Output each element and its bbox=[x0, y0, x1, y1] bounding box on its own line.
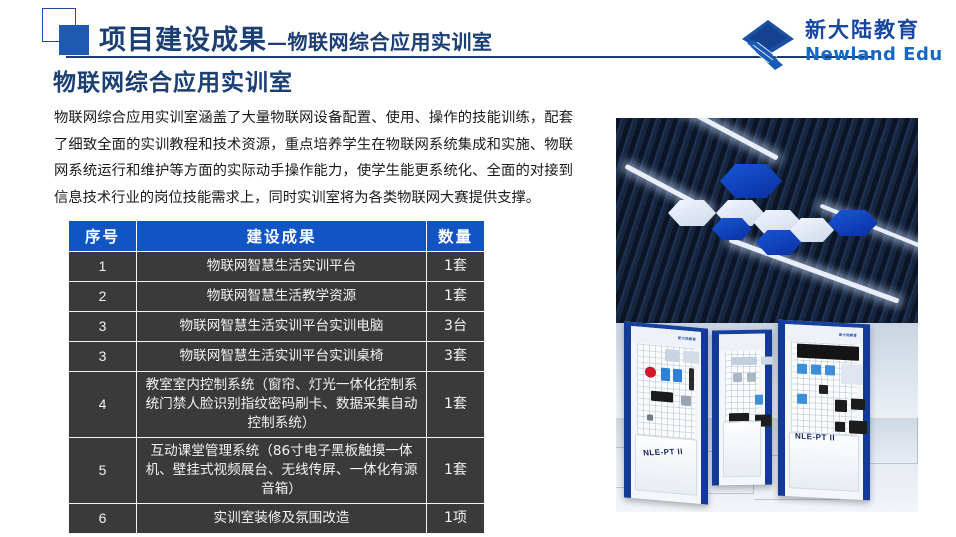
rack-module bbox=[747, 373, 756, 382]
rack-module bbox=[797, 394, 807, 405]
cell-index: 1 bbox=[69, 252, 137, 282]
rack-module bbox=[825, 365, 835, 376]
cell-qty: 1套 bbox=[427, 372, 485, 438]
column-header-index: 序号 bbox=[69, 221, 137, 252]
cell-qty: 1项 bbox=[427, 504, 485, 534]
rack-component-board bbox=[637, 343, 695, 439]
cell-index: 5 bbox=[69, 438, 137, 504]
header-title-sub: —物联网综合应用实训室 bbox=[267, 30, 493, 54]
rack-module bbox=[733, 373, 742, 382]
cell-index: 3 bbox=[69, 342, 137, 372]
rack-module bbox=[665, 349, 679, 362]
rack-module bbox=[683, 350, 699, 363]
table-row: 3物联网智慧生活实训平台实训桌椅3套 bbox=[69, 342, 485, 372]
construction-results-table: 序号 建设成果 数量 1物联网智慧生活实训平台1套2物联网智慧生活教学资源1套3… bbox=[68, 220, 485, 534]
newland-diamond-icon bbox=[737, 19, 799, 75]
rack-module bbox=[835, 400, 847, 413]
table-row: 1物联网智慧生活实训平台1套 bbox=[69, 252, 485, 282]
header-title-main: 项目建设成果 bbox=[99, 25, 267, 56]
cell-item: 物联网智慧生活实训平台 bbox=[137, 252, 427, 282]
header-square-mark bbox=[42, 8, 90, 56]
table-row: 2物联网智慧生活教学资源1套 bbox=[69, 282, 485, 312]
rack-module bbox=[755, 395, 763, 405]
rack-component-board bbox=[725, 351, 759, 422]
brand-name-en: Newland Edu bbox=[805, 43, 943, 67]
rack-module bbox=[689, 368, 694, 390]
cell-index: 4 bbox=[69, 372, 137, 438]
cell-item: 教室室内控制系统（窗帘、灯光一体化控制系统门禁人脸识别指纹密码刷卡、数据采集自动… bbox=[137, 372, 427, 438]
table-body: 1物联网智慧生活实训平台1套2物联网智慧生活教学资源1套3物联网智慧生活实训平台… bbox=[69, 252, 485, 534]
table-row: 3物联网智慧生活实训平台实训电脑3台 bbox=[69, 312, 485, 342]
rack-module bbox=[835, 422, 845, 433]
rack-module bbox=[819, 385, 828, 394]
rack-model-label-left: NLE-PT II bbox=[643, 447, 684, 457]
rack-module bbox=[673, 369, 682, 383]
rack-module bbox=[849, 420, 867, 434]
rack-module bbox=[797, 364, 807, 375]
rack-base-panel bbox=[635, 434, 697, 495]
rack-module bbox=[651, 391, 673, 403]
cell-qty: 1套 bbox=[427, 252, 485, 282]
cell-item: 互动课堂管理系统（86寸电子黑板触摸一体机、壁挂式视频展台、无线传屏、一体化有源… bbox=[137, 438, 427, 504]
rack-module bbox=[761, 356, 773, 364]
brand-name-cn: 新大陆教育 bbox=[805, 17, 943, 43]
cell-qty: 3套 bbox=[427, 342, 485, 372]
rack-brand-tag: 新大陆教育 bbox=[678, 335, 696, 342]
rack-module bbox=[661, 368, 670, 382]
table-row: 4教室室内控制系统（窗帘、灯光一体化控制系统门禁人脸识别指纹密码刷卡、数据采集自… bbox=[69, 372, 485, 438]
cell-index: 6 bbox=[69, 504, 137, 534]
section-heading: 物联网综合应用实训室 bbox=[53, 63, 293, 97]
training-rack-left: 新大陆教育 NLE-PT II bbox=[624, 321, 708, 504]
cell-qty: 1套 bbox=[427, 438, 485, 504]
rack-module bbox=[731, 357, 757, 365]
cell-qty: 3台 bbox=[427, 312, 485, 342]
rack-module bbox=[647, 414, 653, 421]
rack-base-panel bbox=[723, 421, 761, 478]
rack-module bbox=[851, 398, 865, 410]
column-header-item: 建设成果 bbox=[137, 221, 427, 252]
lab-photo: 新大陆教育 NLE-PT II bbox=[616, 118, 918, 512]
rack-module bbox=[811, 364, 821, 375]
table-row: 5互动课堂管理系统（86寸电子黑板触摸一体机、壁挂式视频展台、无线传屏、一体化有… bbox=[69, 438, 485, 504]
cell-item: 物联网智慧生活实训平台实训桌椅 bbox=[137, 342, 427, 372]
brand-logo: 新大陆教育 Newland Edu bbox=[737, 17, 942, 75]
brand-logo-text: 新大陆教育 Newland Edu bbox=[805, 17, 943, 67]
rack-header-band bbox=[719, 334, 765, 351]
cell-qty: 1套 bbox=[427, 282, 485, 312]
table-header-row: 序号 建设成果 数量 bbox=[69, 221, 485, 252]
training-rack-right: 新大陆教育 NLE-PT II bbox=[778, 320, 870, 501]
square-filled-icon bbox=[59, 25, 89, 55]
cell-item: 物联网智慧生活教学资源 bbox=[137, 282, 427, 312]
cell-index: 2 bbox=[69, 282, 137, 312]
training-rack-middle bbox=[712, 329, 772, 485]
rack-display-module bbox=[797, 344, 859, 361]
rack-component-board bbox=[791, 341, 857, 435]
cell-item: 实训室装修及氛围改造 bbox=[137, 504, 427, 534]
cell-index: 3 bbox=[69, 312, 137, 342]
section-paragraph: 物联网综合应用实训室涵盖了大量物联网设备配置、使用、操作的技能训练，配套了细致全… bbox=[54, 105, 573, 211]
cell-item: 物联网智慧生活实训平台实训电脑 bbox=[137, 312, 427, 342]
slide-root: 项目建设成果—物联网综合应用实训室 新大陆教育 Newland Edu 物联网综 bbox=[0, 0, 956, 537]
header-title: 项目建设成果—物联网综合应用实训室 bbox=[99, 18, 493, 57]
column-header-qty: 数量 bbox=[427, 221, 485, 252]
rack-module bbox=[645, 366, 656, 378]
rack-brand-tag: 新大陆教育 bbox=[839, 332, 857, 338]
table-row: 6实训室装修及氛围改造1项 bbox=[69, 504, 485, 534]
rack-module bbox=[841, 364, 863, 385]
rack-module bbox=[681, 395, 691, 406]
